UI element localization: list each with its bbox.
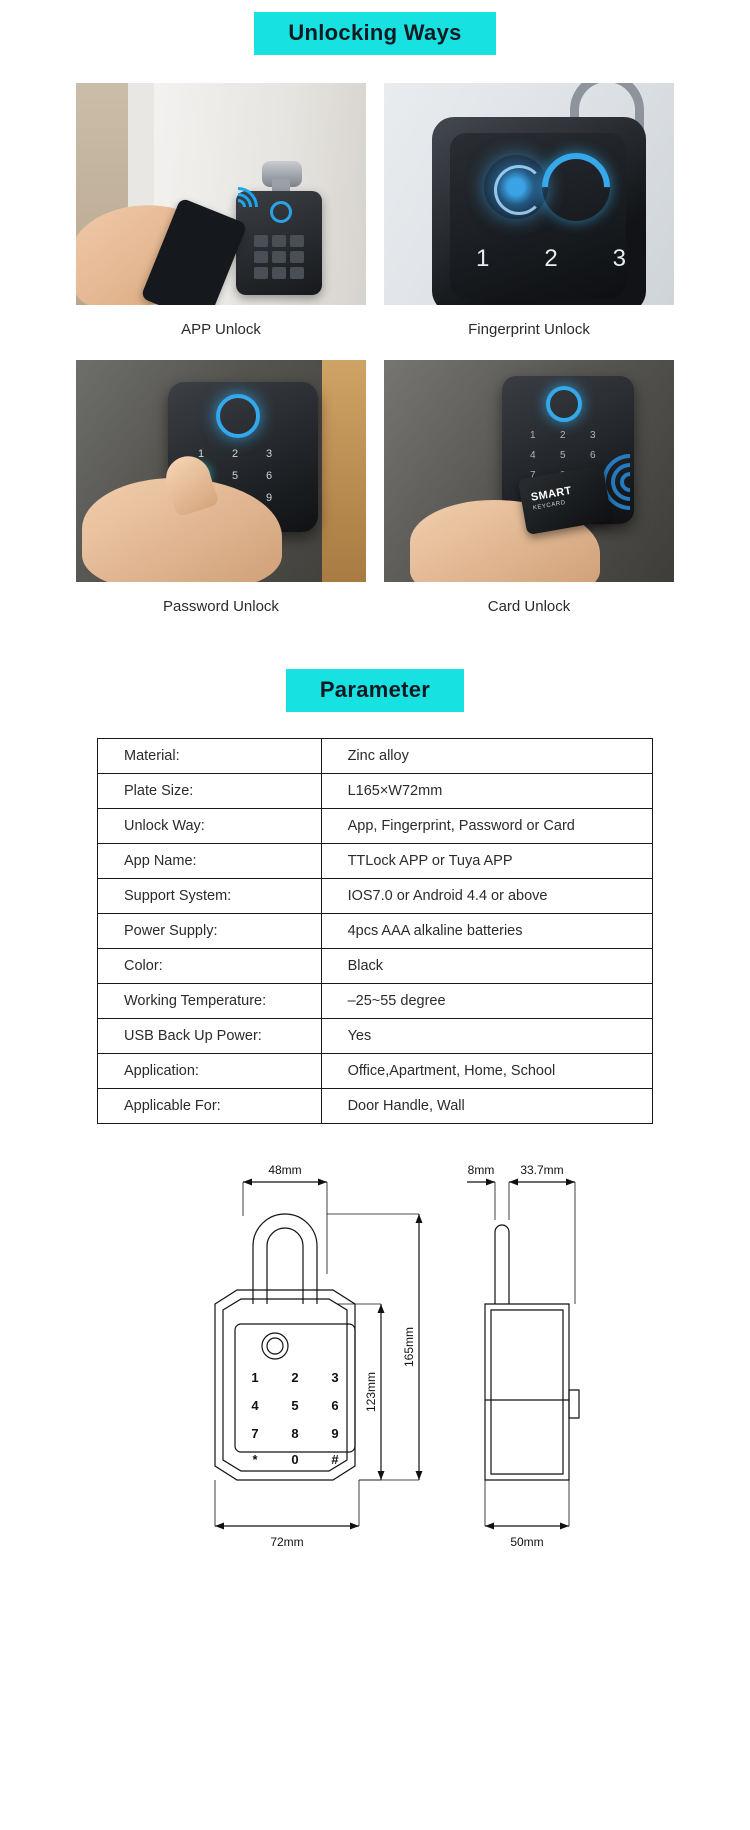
keypad-key-1: 1 <box>530 430 536 441</box>
section-title-parameter: Parameter <box>286 669 464 712</box>
caption-card-unlock: Card Unlock <box>384 582 674 633</box>
lockbox-device: 1 2 3 <box>432 117 646 305</box>
caption-password-unlock: Password Unlock <box>76 582 366 633</box>
spec-value: L165×W72mm <box>321 774 652 809</box>
spec-value: Door Handle, Wall <box>321 1089 652 1124</box>
caption-app-unlock: APP Unlock <box>76 305 366 356</box>
section-title-unlocking-ways: Unlocking Ways <box>254 12 495 55</box>
drawing-keypad-key-7: 7 <box>251 1426 258 1441</box>
keypad-key-5: 5 <box>232 470 238 482</box>
table-row: USB Back Up Power: Yes <box>98 1019 653 1054</box>
unlocking-ways-grid: APP Unlock 1 2 3 Fing <box>0 83 750 633</box>
technical-drawing: 1 2 3 4 5 6 7 8 9 * 0 # 48mm 8mm 33.7mm … <box>0 1154 750 1584</box>
dim-label-total-height: 165mm <box>402 1327 416 1367</box>
unlock-method-card-fingerprint: 1 2 3 Fingerprint Unlock <box>384 83 674 356</box>
drawing-keypad-key-8: 8 <box>291 1426 298 1441</box>
spec-key: Application: <box>98 1054 322 1089</box>
dim-label-body-depth: 33.7mm <box>520 1163 563 1177</box>
spec-table: Material: Zinc alloy Plate Size: L165×W7… <box>97 738 653 1124</box>
card-title: SMART <box>530 485 573 504</box>
dim-label-base-width: 50mm <box>510 1535 543 1549</box>
keypad-key-3: 3 <box>266 448 272 460</box>
drawing-keypad-key-3: 3 <box>331 1370 338 1385</box>
drawing-keypad-key-6: 6 <box>331 1398 338 1413</box>
caption-fingerprint-unlock: Fingerprint Unlock <box>384 305 674 356</box>
keypad-key-9: 9 <box>266 492 272 504</box>
drawing-keypad-key-4: 4 <box>251 1398 259 1413</box>
spec-table-wrapper: Material: Zinc alloy Plate Size: L165×W7… <box>0 712 750 1124</box>
unlocking-ways-header: Unlocking Ways <box>0 0 750 55</box>
drawing-keypad-key-1: 1 <box>251 1370 258 1385</box>
spec-value: Office,Apartment, Home, School <box>321 1054 652 1089</box>
keypad-key-4: 4 <box>530 450 536 461</box>
table-row: Color: Black <box>98 949 653 984</box>
lockbox-faceplate: 1 2 3 <box>450 133 626 299</box>
dimension-diagram: 1 2 3 4 5 6 7 8 9 * 0 # 48mm 8mm 33.7mm … <box>75 1154 675 1584</box>
parameter-header: Parameter <box>0 669 750 712</box>
spec-key: Unlock Way: <box>98 809 322 844</box>
dim-label-body-width: 72mm <box>270 1535 303 1549</box>
keypad-row: 1 2 3 <box>476 245 626 273</box>
drawing-keypad-key-9: 9 <box>331 1426 338 1441</box>
photo-card-unlock: 1 2 3 4 5 6 7 8 9 SMART <box>384 360 674 582</box>
spec-key: Material: <box>98 739 322 774</box>
spec-key: Power Supply: <box>98 914 322 949</box>
dim-label-shackle-width: 48mm <box>268 1163 301 1177</box>
table-row: Unlock Way: App, Fingerprint, Password o… <box>98 809 653 844</box>
keypad-cluster <box>252 233 306 283</box>
keypad-key-2: 2 <box>560 430 566 441</box>
drawing-keypad-key-star: * <box>252 1452 258 1467</box>
scan-arc-icon <box>528 139 624 235</box>
indicator-ring-icon <box>216 394 260 438</box>
spec-key: USB Back Up Power: <box>98 1019 322 1054</box>
photo-app-unlock <box>76 83 366 305</box>
unlock-method-card-rfid: 1 2 3 4 5 6 7 8 9 SMART <box>384 360 674 633</box>
spec-value: Black <box>321 949 652 984</box>
table-row: Material: Zinc alloy <box>98 739 653 774</box>
table-row: Plate Size: L165×W72mm <box>98 774 653 809</box>
spec-key: Working Temperature: <box>98 984 322 1019</box>
keypad-key-2: 2 <box>232 448 238 460</box>
photo-password-unlock: 1 2 3 4 5 6 7 8 9 * 0 # <box>76 360 366 582</box>
spec-key: Plate Size: <box>98 774 322 809</box>
table-row: Working Temperature: –25~55 degree <box>98 984 653 1019</box>
spec-key: Support System: <box>98 879 322 914</box>
drawing-keypad-key-hash: # <box>331 1452 339 1467</box>
spec-value: –25~55 degree <box>321 984 652 1019</box>
keypad-key-2: 2 <box>544 245 557 273</box>
unlock-method-card-app: APP Unlock <box>76 83 366 356</box>
spec-value: Yes <box>321 1019 652 1054</box>
table-row: Application: Office,Apartment, Home, Sch… <box>98 1054 653 1089</box>
table-row: Power Supply: 4pcs AAA alkaline batterie… <box>98 914 653 949</box>
keypad-key-6: 6 <box>266 470 272 482</box>
indicator-ring-icon <box>546 386 582 422</box>
spec-table-body: Material: Zinc alloy Plate Size: L165×W7… <box>98 739 653 1124</box>
wireless-signal-icon <box>228 177 274 217</box>
spec-value: Zinc alloy <box>321 739 652 774</box>
keypad-key-6: 6 <box>590 450 596 461</box>
table-row: Applicable For: Door Handle, Wall <box>98 1089 653 1124</box>
drawing-keypad-key-0: 0 <box>291 1452 298 1467</box>
fingerprint-icon <box>484 155 548 219</box>
keypad-key-3: 3 <box>613 245 626 273</box>
spec-value: TTLock APP or Tuya APP <box>321 844 652 879</box>
keypad-key-1: 1 <box>476 245 489 273</box>
spec-value: 4pcs AAA alkaline batteries <box>321 914 652 949</box>
product-detail-page: Unlocking Ways <box>0 0 750 1584</box>
door-edge <box>322 360 366 582</box>
drawing-keypad-key-5: 5 <box>291 1398 298 1413</box>
keypad-key-3: 3 <box>590 430 596 441</box>
table-row: App Name: TTLock APP or Tuya APP <box>98 844 653 879</box>
photo-fingerprint-unlock: 1 2 3 <box>384 83 674 305</box>
spec-value: App, Fingerprint, Password or Card <box>321 809 652 844</box>
dim-label-body-height: 123mm <box>364 1372 378 1412</box>
keypad-key-5: 5 <box>560 450 566 461</box>
spec-key: Applicable For: <box>98 1089 322 1124</box>
dim-label-shackle-thickness: 8mm <box>468 1163 495 1177</box>
table-row: Support System: IOS7.0 or Android 4.4 or… <box>98 879 653 914</box>
drawing-keypad-key-2: 2 <box>291 1370 298 1385</box>
spec-key: App Name: <box>98 844 322 879</box>
unlock-method-card-password: 1 2 3 4 5 6 7 8 9 * 0 # <box>76 360 366 633</box>
spec-value: IOS7.0 or Android 4.4 or above <box>321 879 652 914</box>
spec-key: Color: <box>98 949 322 984</box>
